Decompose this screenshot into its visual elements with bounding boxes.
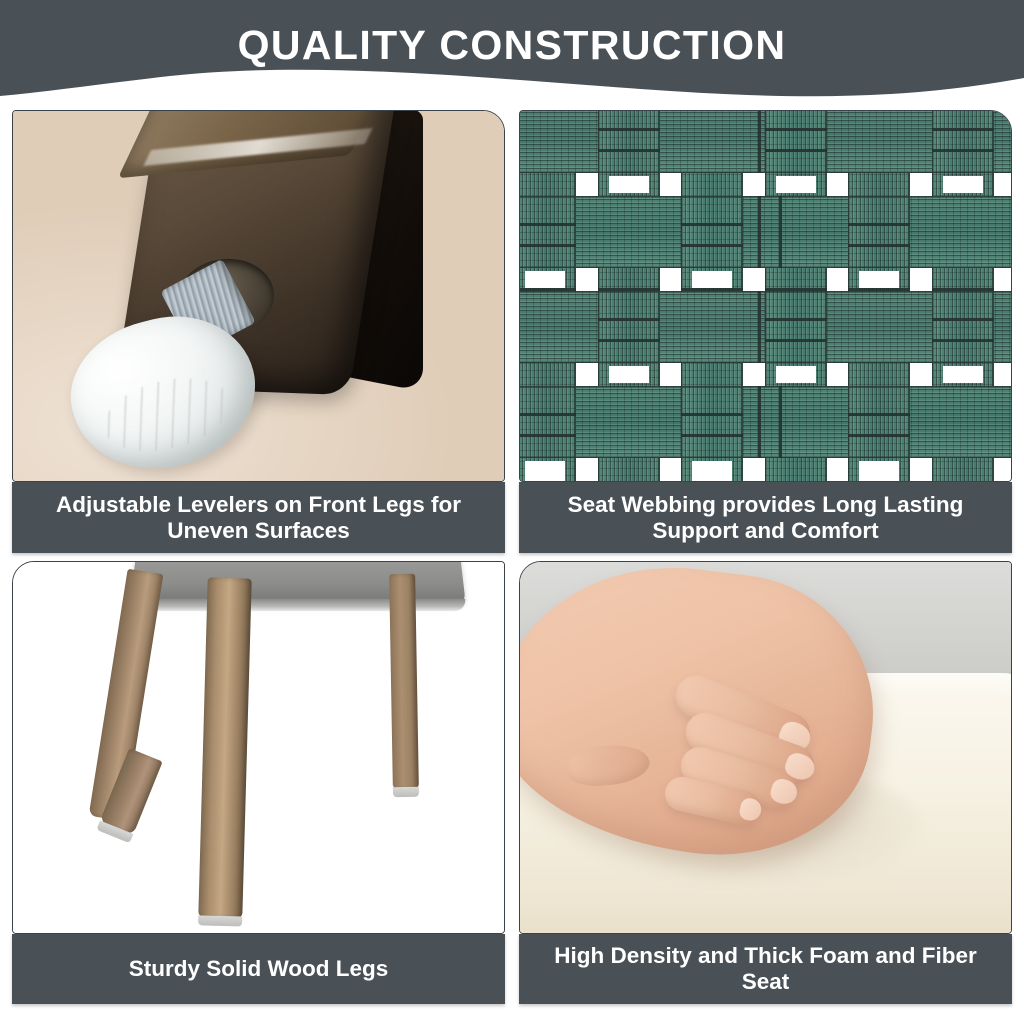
- webbing-strap-overlap: [681, 196, 743, 268]
- webbing-strap-overlap: [848, 386, 910, 458]
- webbing-strap-overlap: [598, 291, 660, 363]
- feature-caption-foam-fiber-seat: High Density and Thick Foam and Fiber Se…: [519, 934, 1012, 1004]
- page-title: QUALITY CONSTRUCTION: [0, 21, 1024, 69]
- thumb: [566, 743, 651, 789]
- feature-caption-solid-wood-legs: Sturdy Solid Wood Legs: [12, 934, 505, 1004]
- webbing-gap: [776, 176, 816, 193]
- feature-card-seat-webbing: Seat Webbing provides Long Lasting Suppo…: [519, 110, 1012, 553]
- webbing-gap: [609, 176, 649, 193]
- chair-leg-front: [198, 577, 251, 918]
- leveler-scene: [13, 111, 504, 481]
- webbing-gap: [692, 271, 732, 288]
- webbing-strap-overlap: [520, 386, 576, 458]
- webbing-gap: [692, 461, 732, 481]
- leg-glide-foot: [198, 915, 242, 926]
- webbing-strap-overlap: [932, 291, 994, 363]
- webbing-gap: [776, 366, 816, 383]
- webbing-strap-overlap: [765, 291, 827, 363]
- foam-scene: [520, 562, 1011, 933]
- webbing-gap: [609, 366, 649, 383]
- leveler-photo: [12, 110, 505, 482]
- webbing-strap-overlap: [520, 196, 576, 268]
- wood-legs-photo: [12, 561, 505, 934]
- feature-card-adjustable-levelers: Adjustable Levelers on Front Legs for Un…: [12, 110, 505, 553]
- webbing-gap: [859, 271, 899, 288]
- webbing-strap-overlap: [932, 111, 994, 173]
- webbing-gap: [943, 366, 983, 383]
- webbing-strap-overlap: [765, 111, 827, 173]
- feature-card-foam-fiber-seat: High Density and Thick Foam and Fiber Se…: [519, 561, 1012, 1004]
- feature-grid: Adjustable Levelers on Front Legs for Un…: [12, 110, 1012, 1004]
- leg-glide-foot: [393, 787, 419, 797]
- webbing-strap-overlap: [681, 386, 743, 458]
- webbing-photo: [519, 110, 1012, 482]
- feature-caption-adjustable-levelers: Adjustable Levelers on Front Legs for Un…: [12, 482, 505, 553]
- chair-leg-right: [389, 574, 419, 789]
- webbing-gap: [943, 176, 983, 193]
- webbing-strap-horizontal: [520, 386, 1011, 458]
- feature-caption-seat-webbing: Seat Webbing provides Long Lasting Suppo…: [519, 482, 1012, 553]
- webbing-gap: [525, 461, 565, 481]
- foam-photo: [519, 561, 1012, 934]
- webbing-weave: [520, 111, 1011, 481]
- feature-card-solid-wood-legs: Sturdy Solid Wood Legs: [12, 561, 505, 1004]
- webbing-gap: [859, 461, 899, 481]
- webbing-gap: [525, 271, 565, 288]
- webbing-strap-horizontal: [520, 196, 1011, 268]
- header-banner: QUALITY CONSTRUCTION: [0, 0, 1024, 112]
- wood-legs-scene: [13, 562, 504, 933]
- infographic-page: QUALITY CONSTRUCTION Adjustable Levelers…: [0, 0, 1024, 1024]
- leg-glide-foot: [96, 820, 133, 843]
- webbing-strap-overlap: [598, 111, 660, 173]
- webbing-strap-overlap: [848, 196, 910, 268]
